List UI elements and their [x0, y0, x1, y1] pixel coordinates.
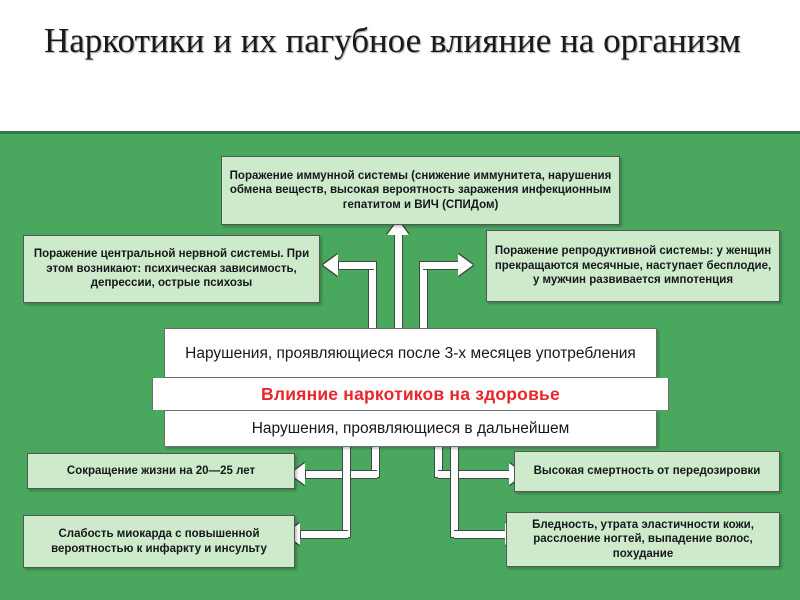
- page-title: Наркотики и их пагубное влияние на орган…: [44, 18, 764, 64]
- effect-box-mortality[interactable]: Высокая смертность от передозировки: [514, 451, 780, 492]
- connector-left-up-stem: [368, 261, 377, 331]
- effect-box-reproductive[interactable]: Поражение репродуктивной системы: у женщ…: [486, 230, 780, 302]
- effect-label-lifespan: Сокращение жизни на 20—25 лет: [67, 464, 255, 479]
- connector-center-up-stem: [394, 234, 403, 331]
- center-label-top: Нарушения, проявляющиеся после 3-х месяц…: [185, 343, 636, 364]
- connector-skin-horizontal: [454, 530, 506, 539]
- title-band: Наркотики и их пагубное влияние на орган…: [0, 0, 800, 131]
- effect-label-myocardium: Слабость миокарда с повышенной вероятнос…: [30, 527, 288, 556]
- diagram-canvas: Поражение иммунной системы (снижение имм…: [0, 131, 800, 600]
- effect-label-immune: Поражение иммунной системы (снижение имм…: [228, 169, 613, 213]
- center-label-bottom: Нарушения, проявляющиеся в дальнейшем: [252, 418, 570, 439]
- arrowhead-right-reproductive: [458, 254, 473, 276]
- effect-label-nervous: Поражение центральной нервной системы. П…: [30, 247, 313, 291]
- connector-right-up-stem: [419, 261, 428, 331]
- center-banner-label: Влияние наркотиков на здоровье: [261, 384, 560, 405]
- connector-left-horizontal: [338, 261, 374, 270]
- effect-box-lifespan[interactable]: Сокращение жизни на 20—25 лет: [27, 453, 295, 489]
- connector-myocardium-horizontal: [300, 530, 348, 539]
- connector-lifespan-horizontal: [305, 470, 377, 479]
- connector-right-horizontal: [423, 261, 459, 270]
- effect-label-mortality: Высокая смертность от передозировки: [534, 464, 761, 479]
- arrowhead-left-nervous: [323, 254, 338, 276]
- center-box-bottom[interactable]: Нарушения, проявляющиеся в дальнейшем: [164, 410, 657, 447]
- center-banner[interactable]: Влияние наркотиков на здоровье: [152, 378, 669, 410]
- center-box-top[interactable]: Нарушения, проявляющиеся после 3-х месяц…: [164, 328, 657, 378]
- effect-box-myocardium[interactable]: Слабость миокарда с повышенной вероятнос…: [23, 515, 295, 568]
- effect-label-skin: Бледность, утрата эластичности кожи, рас…: [513, 518, 773, 562]
- effect-box-skin[interactable]: Бледность, утрата эластичности кожи, рас…: [506, 512, 780, 567]
- effect-box-nervous[interactable]: Поражение центральной нервной системы. П…: [23, 235, 320, 303]
- slide-root: Наркотики и их пагубное влияние на орган…: [0, 0, 800, 600]
- effect-box-immune[interactable]: Поражение иммунной системы (снижение имм…: [221, 156, 620, 225]
- effect-label-reproductive: Поражение репродуктивной системы: у женщ…: [493, 244, 773, 288]
- connector-mortality-horizontal: [438, 470, 510, 479]
